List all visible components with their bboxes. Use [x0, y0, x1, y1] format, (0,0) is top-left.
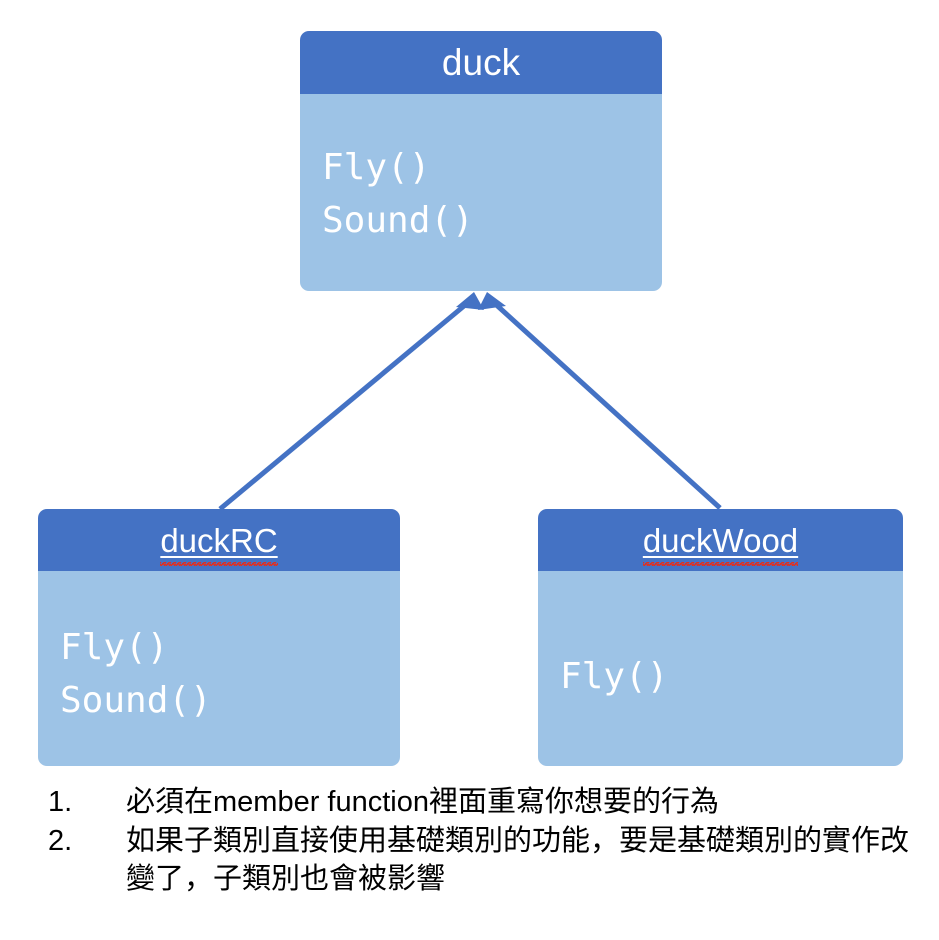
class-body-duckwood: Fly() [538, 571, 903, 766]
method-list-duck: Fly() Sound() [322, 142, 474, 247]
class-header-duckrc: duckRC [38, 509, 400, 571]
connector-duckrc-to-duck [220, 292, 484, 509]
spellcheck-squiggle-icon [160, 562, 277, 566]
spellcheck-squiggle-icon [643, 562, 798, 566]
class-title-duckrc: duckRC [160, 522, 277, 559]
class-header-duck: duck [300, 31, 662, 94]
class-title-wrap-duckrc: duckRC [160, 524, 277, 557]
note-number: 2. [48, 822, 126, 861]
note-text: 如果子類別直接使用基礎類別的功能，要是基礎類別的實作改變了，子類別也會被影響 [126, 822, 928, 899]
note-text: 必須在member function裡面重寫你想要的行為 [126, 783, 928, 822]
class-title-wrap-duck: duck [442, 44, 520, 81]
class-body-duck: Fly() Sound() [300, 94, 662, 291]
class-header-duckwood: duckWood [538, 509, 903, 571]
note-item: 2. 如果子類別直接使用基礎類別的功能，要是基礎類別的實作改變了，子類別也會被影… [48, 822, 928, 899]
note-item: 1. 必須在member function裡面重寫你想要的行為 [48, 783, 928, 822]
notes-list: 1. 必須在member function裡面重寫你想要的行為 2. 如果子類別… [48, 783, 928, 899]
method-list-duckwood: Fly() [560, 651, 668, 704]
class-box-duckrc[interactable]: duckRC Fly() Sound() [38, 509, 400, 766]
diagram-canvas: duck Fly() Sound() duckRC Fly() Sound() … [0, 0, 939, 940]
class-title-duck: duck [442, 42, 520, 83]
method-list-duckrc: Fly() Sound() [60, 622, 212, 727]
class-title-wrap-duckwood: duckWood [643, 524, 798, 557]
class-box-duck[interactable]: duck Fly() Sound() [300, 31, 662, 291]
class-title-duckwood: duckWood [643, 522, 798, 559]
note-number: 1. [48, 783, 126, 822]
class-body-duckrc: Fly() Sound() [38, 571, 400, 766]
class-box-duckwood[interactable]: duckWood Fly() [538, 509, 903, 766]
connector-duckwood-to-duck [478, 292, 720, 508]
